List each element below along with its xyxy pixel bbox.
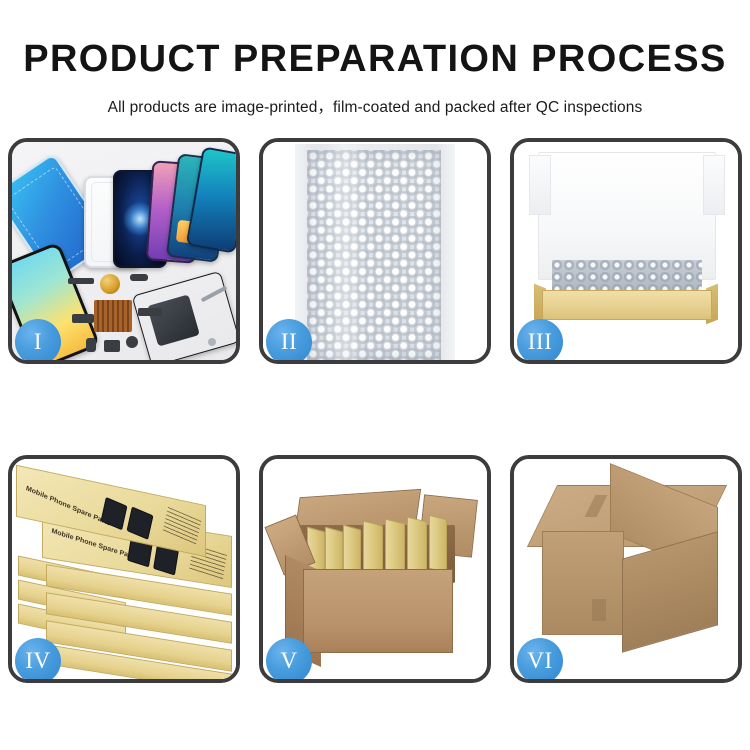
- step-badge-4: IV: [15, 638, 61, 683]
- step-panel-6[interactable]: VI: [510, 455, 742, 683]
- product-preparation-infographic: PRODUCT PREPARATION PROCESS All products…: [0, 0, 750, 750]
- step-badge-5: V: [266, 638, 312, 683]
- step-panel-1[interactable]: I: [8, 138, 240, 364]
- step-panel-4[interactable]: Mobile Phone Spare Parts Mobile Phone Sp…: [8, 455, 240, 683]
- step-badge-2: II: [266, 319, 312, 364]
- carton-tape-front: [592, 599, 606, 621]
- header: PRODUCT PREPARATION PROCESS All products…: [0, 0, 750, 117]
- camera-module-icon: [72, 314, 94, 323]
- speaker-component-icon: [100, 274, 120, 294]
- step-badge-3: III: [517, 319, 563, 364]
- step-badge-1: I: [15, 319, 61, 364]
- packed-box: [429, 515, 447, 573]
- step-badge-6: VI: [517, 638, 563, 683]
- ribbon-cable-icon: [138, 308, 162, 316]
- flex-cable-icon: [68, 278, 94, 284]
- vibrator-icon: [104, 340, 120, 352]
- step-panel-5[interactable]: V: [259, 455, 491, 683]
- kraft-box-front-icon: [542, 290, 712, 320]
- carton-body-icon: [303, 569, 453, 653]
- bubble-wrapped-contents-icon: [552, 260, 702, 294]
- carton-side-face: [622, 531, 718, 653]
- chip-board-icon: [94, 300, 132, 332]
- screw-icon: [126, 336, 138, 348]
- step-panel-2[interactable]: II: [259, 138, 491, 364]
- carton-front-face: [542, 531, 624, 635]
- page-title: PRODUCT PREPARATION PROCESS: [0, 40, 750, 78]
- connector-icon: [130, 274, 148, 281]
- wrap-highlight: [323, 142, 367, 360]
- step-panel-3[interactable]: III: [510, 138, 742, 364]
- packed-box: [407, 517, 427, 576]
- small-screw-icon: [208, 338, 216, 346]
- button-icon: [86, 338, 96, 352]
- steps-grid: I II III: [8, 138, 742, 683]
- page-subtitle: All products are image-printed，film-coat…: [0, 95, 750, 117]
